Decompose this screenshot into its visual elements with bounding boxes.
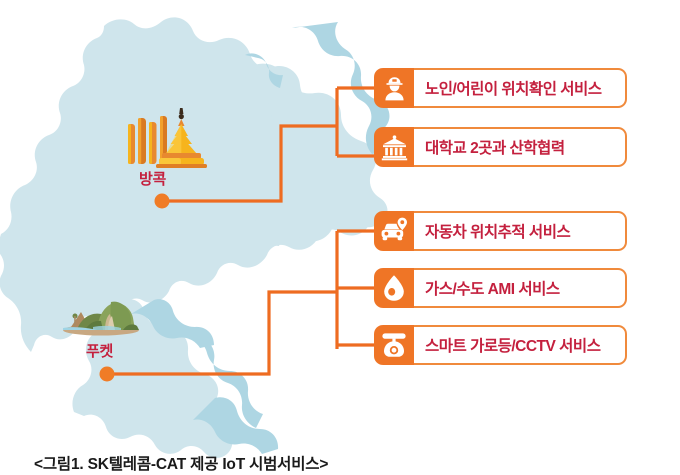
city-label-phuket: 푸켓 [86, 344, 113, 359]
cctv-dome-icon [374, 325, 414, 365]
car-location-icon [374, 211, 414, 251]
water-droplet-icon [374, 268, 414, 308]
service-item-university-cooperation[interactable]: 대학교 2곳과 산학협력 [374, 127, 627, 167]
service-label: 가스/수도 AMI 서비스 [414, 268, 627, 308]
city-dot-bangkok [155, 194, 170, 209]
figure-caption: <그림1. SK텔레콤-CAT 제공 IoT 시범서비스> [34, 452, 328, 474]
university-building-icon [374, 127, 414, 167]
city-label-bangkok: 방콕 [139, 172, 166, 187]
service-label: 자동차 위치추적 서비스 [414, 211, 627, 251]
police-person-icon [374, 68, 414, 108]
service-item-elderly-child-location[interactable]: 노인/어린이 위치확인 서비스 [374, 68, 627, 108]
figure-canvas: 방콕 푸켓 노인/어린이 위치확인 서비스 [0, 0, 680, 475]
city-dot-phuket [100, 367, 115, 382]
service-item-gas-water-ami[interactable]: 가스/수도 AMI 서비스 [374, 268, 627, 308]
service-item-smart-streetlight-cctv[interactable]: 스마트 가로등/CCTV 서비스 [374, 325, 627, 365]
service-label: 노인/어린이 위치확인 서비스 [414, 68, 627, 108]
service-item-vehicle-tracking[interactable]: 자동차 위치추적 서비스 [374, 211, 627, 251]
service-label: 스마트 가로등/CCTV 서비스 [414, 325, 627, 365]
service-label: 대학교 2곳과 산학협력 [414, 127, 627, 167]
